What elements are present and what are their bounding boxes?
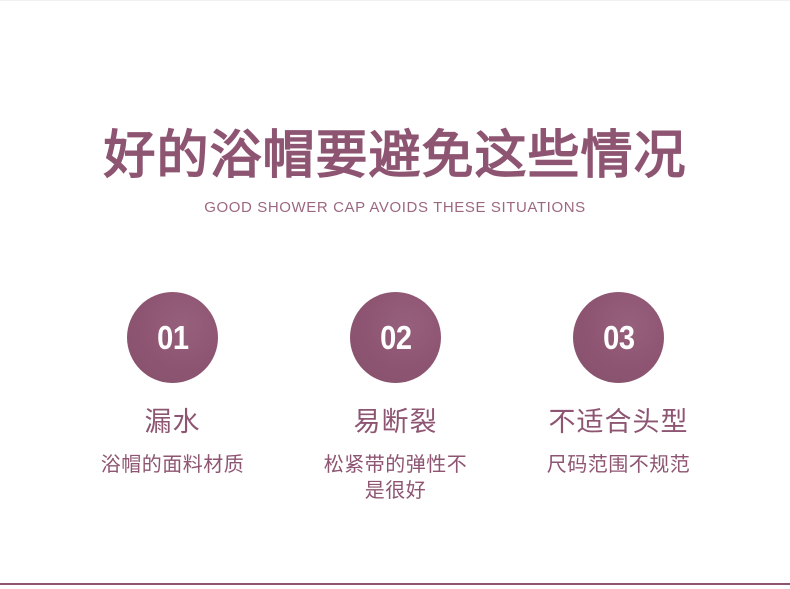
feature-column-03: 03 不适合头型 尺码范围不规范 <box>507 292 730 504</box>
feature-columns: 01 漏水 浴帽的面料材质 02 易断裂 松紧带的弹性不是很好 03 不适合头型… <box>0 292 790 504</box>
feature-description-03: 尺码范围不规范 <box>547 452 691 478</box>
feature-heading-01: 漏水 <box>145 406 201 438</box>
header-block: 好的浴帽要避免这些情况 GOOD SHOWER CAP AVOIDS THESE… <box>0 125 790 217</box>
page-subtitle: GOOD SHOWER CAP AVOIDS THESE SITUATIONS <box>0 199 790 217</box>
feature-description-01: 浴帽的面料材质 <box>101 452 245 478</box>
feature-heading-02: 易断裂 <box>354 406 438 438</box>
feature-heading-03: 不适合头型 <box>549 406 689 438</box>
feature-column-02: 02 易断裂 松紧带的弹性不是很好 <box>284 292 507 504</box>
number-badge-02: 02 <box>350 292 441 383</box>
top-hairline-divider <box>0 0 790 1</box>
badge-number-label: 01 <box>157 321 188 354</box>
badge-number-label: 02 <box>380 321 411 354</box>
number-badge-03: 03 <box>573 292 664 383</box>
number-badge-01: 01 <box>127 292 218 383</box>
promo-banner: 好的浴帽要避免这些情况 GOOD SHOWER CAP AVOIDS THESE… <box>0 0 790 589</box>
badge-number-label: 03 <box>603 321 634 354</box>
page-title: 好的浴帽要避免这些情况 <box>0 125 790 187</box>
bottom-divider <box>0 583 790 585</box>
feature-description-02: 松紧带的弹性不是很好 <box>321 452 471 504</box>
feature-column-01: 01 漏水 浴帽的面料材质 <box>61 292 284 504</box>
